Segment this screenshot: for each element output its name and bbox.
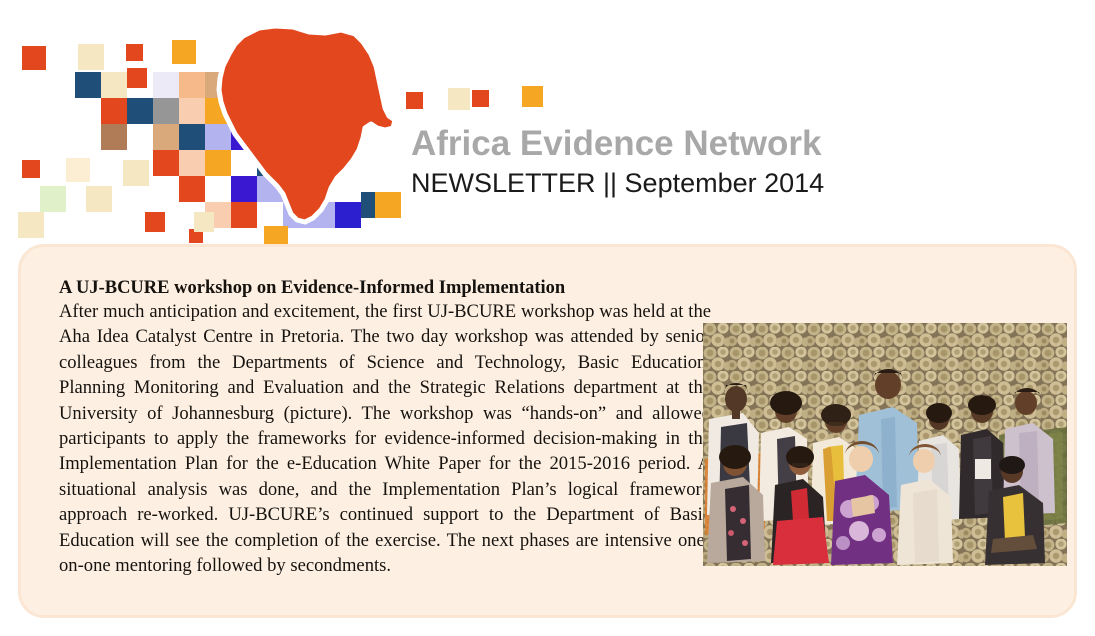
article-body-text: After much anticipation and excitement, … bbox=[59, 299, 711, 578]
mosaic-tile bbox=[179, 98, 205, 124]
mosaic-tile bbox=[153, 150, 179, 176]
article-card: A UJ-BCURE workshop on Evidence-Informed… bbox=[18, 244, 1077, 618]
mosaic-tile bbox=[179, 176, 205, 202]
article-card-inner: A UJ-BCURE workshop on Evidence-Informed… bbox=[21, 247, 1080, 621]
mosaic-tile bbox=[101, 124, 127, 150]
mosaic-tile bbox=[522, 86, 543, 107]
mosaic-tile bbox=[448, 88, 470, 110]
mosaic-tile bbox=[194, 212, 214, 232]
newsletter-issue-label: NEWSLETTER || September 2014 bbox=[411, 166, 1031, 200]
mosaic-tile bbox=[153, 72, 179, 98]
workshop-group-photo bbox=[703, 323, 1067, 566]
africa-map-icon bbox=[213, 24, 399, 240]
mosaic-tile bbox=[179, 124, 205, 150]
mosaic-tile bbox=[78, 44, 104, 70]
mosaic-tile bbox=[101, 72, 127, 98]
article-heading: A UJ-BCURE workshop on Evidence-Informed… bbox=[59, 277, 719, 299]
mosaic-tile bbox=[127, 98, 153, 124]
mosaic-tile bbox=[123, 160, 149, 186]
mosaic-tile bbox=[153, 98, 179, 124]
header-title-block: Africa Evidence Network NEWSLETTER || Se… bbox=[411, 124, 1031, 200]
mosaic-tile bbox=[406, 92, 423, 109]
newsletter-page: Africa Evidence Network NEWSLETTER || Se… bbox=[0, 0, 1095, 636]
mosaic-tile bbox=[66, 158, 90, 182]
mosaic-tile bbox=[472, 90, 489, 107]
mosaic-tile bbox=[40, 186, 66, 212]
mosaic-tile bbox=[127, 68, 147, 88]
mosaic-tile bbox=[153, 124, 179, 150]
mosaic-tile bbox=[179, 150, 205, 176]
mosaic-tile bbox=[172, 40, 196, 64]
mosaic-tile bbox=[101, 98, 127, 124]
page-title: Africa Evidence Network bbox=[411, 124, 1031, 164]
mosaic-tile bbox=[22, 160, 40, 178]
mosaic-tile bbox=[126, 44, 143, 61]
mosaic-tile bbox=[86, 186, 112, 212]
newsletter-header: Africa Evidence Network NEWSLETTER || Se… bbox=[0, 0, 1095, 250]
mosaic-tile bbox=[18, 212, 44, 238]
mosaic-tile bbox=[145, 212, 165, 232]
mosaic-tile bbox=[179, 72, 205, 98]
mosaic-tile bbox=[22, 46, 46, 70]
mosaic-tile bbox=[75, 72, 101, 98]
